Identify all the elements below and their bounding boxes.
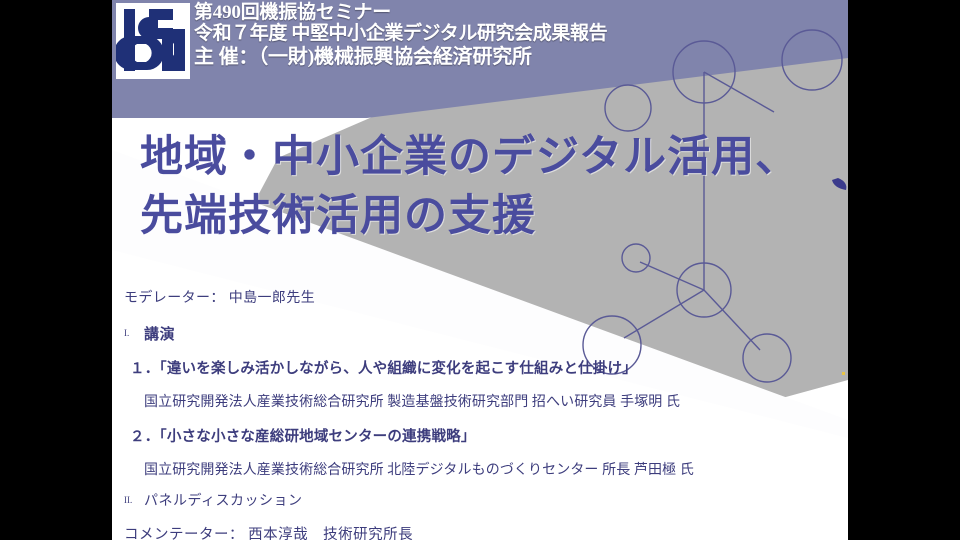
section-2-number: II. <box>124 495 132 505</box>
network-node <box>622 244 650 272</box>
talk-1-title: １．「違いを楽しみ活かしながら、人や組織に変化を起こす仕組みと仕掛け」 <box>130 357 637 378</box>
header-text-block: 第490回機振協セミナー 令和７年度 中堅中小企業デジタル研究会成果報告 主 催… <box>194 2 607 68</box>
network-edge <box>704 290 760 350</box>
section-1-number: I. <box>124 328 129 338</box>
accent-dot <box>842 372 845 375</box>
bsk-logo-mark <box>116 3 190 79</box>
section-2-label: パネルディスカッション <box>144 490 303 510</box>
slide-title: 地域・中小企業のデジタル活用、 先端技術活用の支援 <box>140 128 840 247</box>
talk-2-affiliation: 国立研究開発法人産業技術総合研究所 北陸デジタルものづくりセンター 所長 芦田極… <box>144 459 694 479</box>
talk-2-title: ２．「小さな小さな産総研地域センターの連携戦略」 <box>130 425 476 446</box>
bsk-logo <box>116 3 190 79</box>
network-node <box>743 334 791 382</box>
header-line-organizer: 主 催：（一財)機械振興協会経済研究所 <box>194 46 607 68</box>
header-line-seminar-number: 第490回機振協セミナー <box>194 2 607 23</box>
screenshot-canvas: 第490回機振協セミナー 令和７年度 中堅中小企業デジタル研究会成果報告 主 催… <box>0 0 960 540</box>
moderator-line: モデレーター： 中島一郎先生 <box>124 287 315 307</box>
section-1-label: 講演 <box>144 323 175 344</box>
network-node <box>677 263 731 317</box>
slide-header: 第490回機振協セミナー 令和７年度 中堅中小企業デジタル研究会成果報告 主 催… <box>112 0 848 118</box>
title-line-2: 先端技術活用の支援 <box>140 187 840 246</box>
talk-1-affiliation: 国立研究開発法人産業技術総合研究所 製造基盤技術研究部門 招へい研究員 手塚明 … <box>144 391 680 411</box>
network-edge <box>640 262 704 290</box>
commentator-line: コメンテーター： 西本淳哉 技術研究所長 <box>124 523 413 540</box>
network-edge <box>624 290 704 338</box>
title-line-1: 地域・中小企業のデジタル活用、 <box>140 128 840 187</box>
presentation-slide: 第490回機振協セミナー 令和７年度 中堅中小企業デジタル研究会成果報告 主 催… <box>112 0 848 540</box>
header-line-subtitle: 令和７年度 中堅中小企業デジタル研究会成果報告 <box>194 23 607 44</box>
